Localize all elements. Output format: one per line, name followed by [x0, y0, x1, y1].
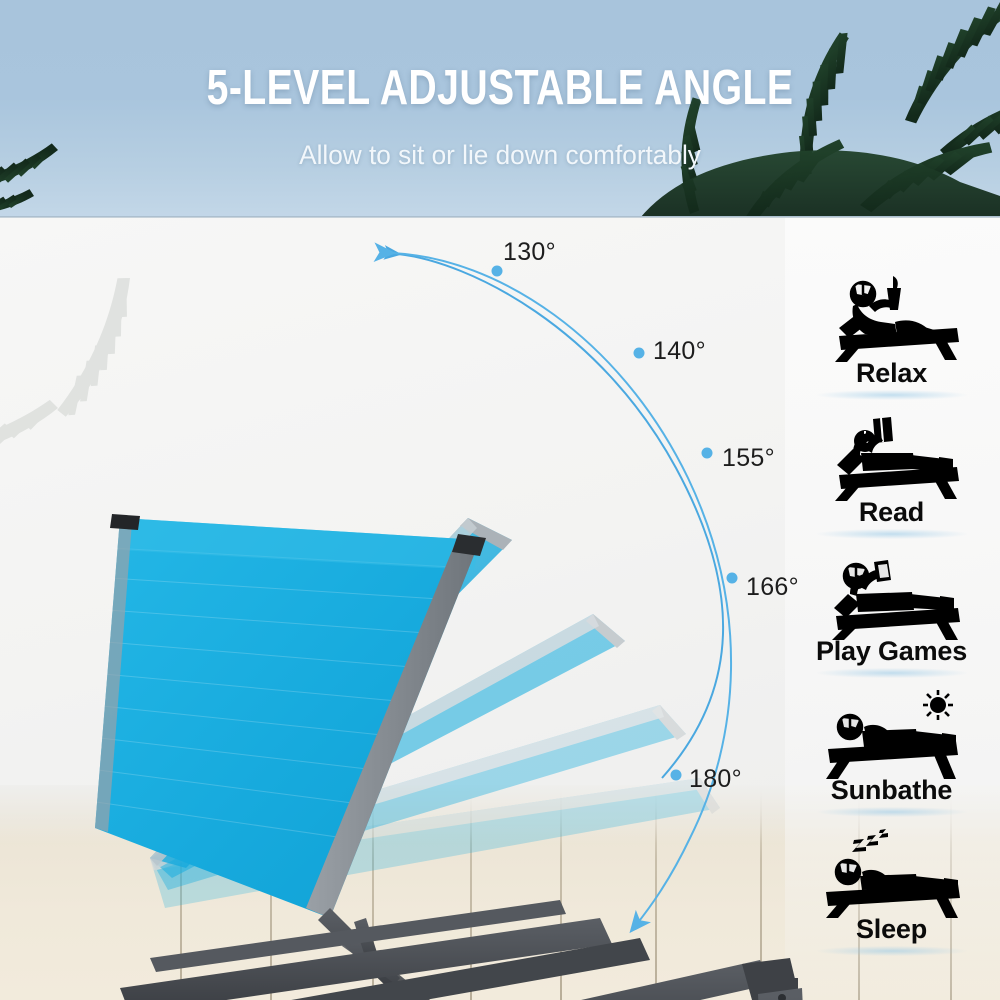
- infographic-root: 5-LEVEL ADJUSTABLE ANGLE Allow to sit or…: [0, 0, 1000, 1000]
- feature-label-read: Read: [789, 497, 994, 528]
- feature-label-play-games: Play Games: [789, 636, 994, 667]
- arc-dot-130: [492, 266, 503, 277]
- feature-item-sleep: Sleep: [789, 824, 994, 963]
- angle-label-140: 140°: [653, 337, 706, 366]
- feature-label-relax: Relax: [789, 358, 994, 389]
- feature-label-sleep: Sleep: [789, 914, 994, 945]
- activity-feature-list: Relax: [789, 268, 994, 963]
- page-title: 5-LEVEL ADJUSTABLE ANGLE: [100, 62, 900, 114]
- feature-item-play-games: Play Games: [789, 546, 994, 685]
- feature-label-sunbathe: Sunbathe: [789, 775, 994, 806]
- label-glow: [817, 807, 967, 817]
- feature-item-relax: Relax: [789, 268, 994, 407]
- arc-dot-180: [671, 770, 682, 781]
- angle-label-130: 130°: [503, 238, 556, 267]
- header-banner: 5-LEVEL ADJUSTABLE ANGLE Allow to sit or…: [0, 0, 1000, 218]
- arc-dot-155: [702, 448, 713, 459]
- person-playing-phone-icon: [789, 546, 994, 642]
- label-glow: [817, 946, 967, 956]
- arc-dot-166: [727, 573, 738, 584]
- feature-item-sunbathe: Sunbathe: [789, 685, 994, 824]
- page-subtitle: Allow to sit or lie down comfortably: [15, 139, 985, 171]
- product-scene: 130° 140° 155° 166° 180°: [0, 218, 1000, 1000]
- person-sleeping-zzz-icon: [789, 824, 994, 920]
- angle-label-155: 155°: [722, 444, 775, 473]
- label-glow: [817, 668, 967, 678]
- person-relaxing-with-drink-icon: [789, 268, 994, 364]
- label-glow: [817, 390, 967, 400]
- angle-label-180: 180°: [689, 765, 742, 794]
- label-glow: [817, 529, 967, 539]
- person-reading-book-icon: [789, 407, 994, 503]
- feature-item-read: Read: [789, 407, 994, 546]
- arc-dot-140: [634, 348, 645, 359]
- person-sunbathing-with-sun-icon: [789, 685, 994, 781]
